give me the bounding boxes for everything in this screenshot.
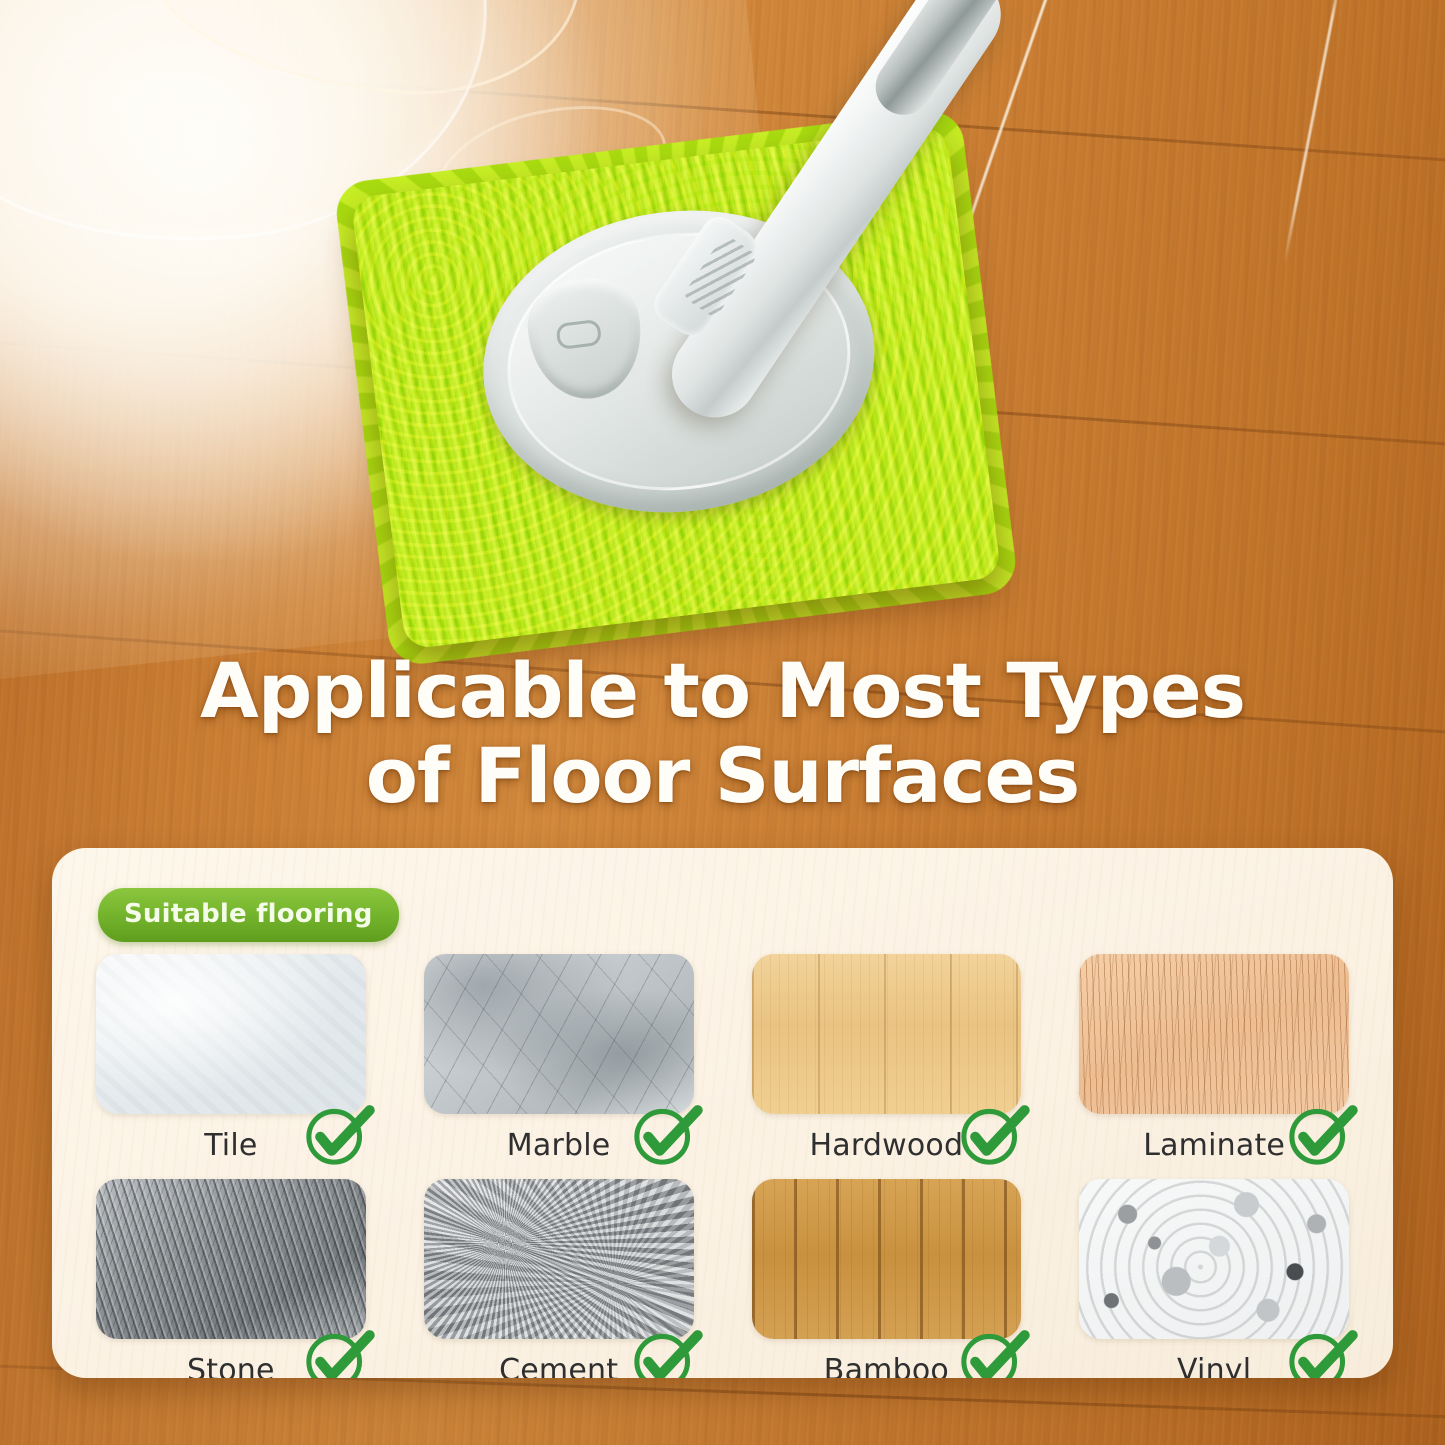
flooring-type-item: Cement [424,1179,694,1378]
flat-mop [0,0,1445,700]
page-title: Applicable to Most Types of Floor Surfac… [0,648,1445,818]
check-circle-icon [955,1095,1031,1171]
flooring-swatch [752,1179,1022,1339]
suitable-flooring-badge: Suitable flooring [98,888,399,942]
flooring-type-item: Vinyl [1079,1179,1349,1378]
flooring-type-grid: TileMarbleHardwoodLaminateStoneCementBam… [96,954,1349,1378]
flooring-type-item: Tile [96,954,366,1163]
flooring-type-item: Bamboo [752,1179,1022,1378]
flooring-swatch [424,954,694,1114]
check-circle-icon [628,1095,704,1171]
check-circle-icon [628,1320,704,1378]
flooring-type-item: Stone [96,1179,366,1378]
check-circle-icon [955,1320,1031,1378]
flooring-swatch [1079,954,1349,1114]
flooring-swatch [96,1179,366,1339]
suitable-flooring-card: Suitable flooring TileMarbleHardwoodLami… [52,848,1393,1378]
flooring-swatch [752,954,1022,1114]
flooring-type-item: Laminate [1079,954,1349,1163]
check-circle-icon [300,1320,376,1378]
flooring-swatch [96,954,366,1114]
headline-line-1: Applicable to Most Types [0,648,1445,733]
check-circle-icon [1283,1320,1359,1378]
headline-line-2: of Floor Surfaces [0,733,1445,818]
flooring-type-item: Hardwood [752,954,1022,1163]
flooring-swatch [424,1179,694,1339]
flooring-swatch [1079,1179,1349,1339]
check-circle-icon [1283,1095,1359,1171]
flooring-type-item: Marble [424,954,694,1163]
check-circle-icon [300,1095,376,1171]
